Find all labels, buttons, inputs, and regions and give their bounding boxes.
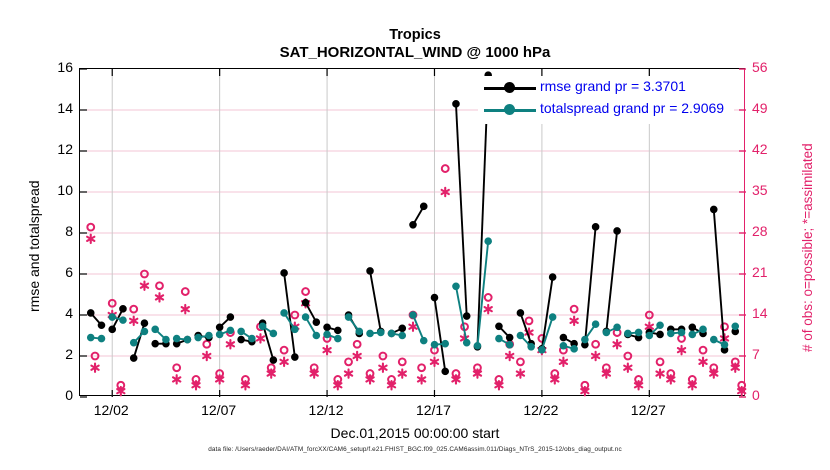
y-tick-right: 42 [752,141,786,157]
y-tick-left: 8 [39,223,73,239]
y-tick-left: 0 [39,387,73,403]
chart-legend: rmse grand pr = 3.3701 totalspread grand… [478,76,734,124]
y-tick-right: 21 [752,264,786,280]
y-tick-right: 7 [752,346,786,362]
legend-label-totalspread: totalspread grand pr = 2.9069 [540,100,724,116]
legend-item-totalspread[interactable]: totalspread grand pr = 2.9069 [478,99,734,121]
chart-subtitle: SAT_HORIZONTAL_WIND @ 1000 hPa [0,44,830,61]
y-tick-right: 14 [752,305,786,321]
y-tick-left: 10 [39,182,73,198]
y-tick-right: 49 [752,100,786,116]
legend-item-rmse[interactable]: rmse grand pr = 3.3701 [478,77,734,99]
x-tick: 12/12 [291,402,361,418]
y-axis-label-right: # of obs: o=possible; *=assimilated [800,143,815,352]
y-tick-right: 56 [752,59,786,75]
y-tick-right: 0 [752,387,786,403]
y-tick-left: 12 [39,141,73,157]
y-tick-left: 4 [39,305,73,321]
legend-label-rmse: rmse grand pr = 3.3701 [540,78,686,94]
x-axis-label: Dec.01,2015 00:00:00 start [0,425,830,441]
y-tick-left: 14 [39,100,73,116]
y-tick-right: 28 [752,223,786,239]
x-tick: 12/27 [613,402,683,418]
y-tick-left: 2 [39,346,73,362]
y-tick-left: 6 [39,264,73,280]
chart-title: Tropics [0,27,830,43]
data-file-footer: data file: /Users/raeder/DAI/ATM_forcXX/… [0,446,830,453]
y-tick-right: 35 [752,182,786,198]
x-tick: 12/07 [184,402,254,418]
legend-marker-totalspread [504,104,515,115]
x-tick: 12/22 [506,402,576,418]
x-tick: 12/17 [398,402,468,418]
legend-marker-rmse [504,82,515,93]
y-axis-label-left: rmse and totalspread [26,180,42,312]
x-tick: 12/02 [76,402,146,418]
y-tick-left: 16 [39,59,73,75]
